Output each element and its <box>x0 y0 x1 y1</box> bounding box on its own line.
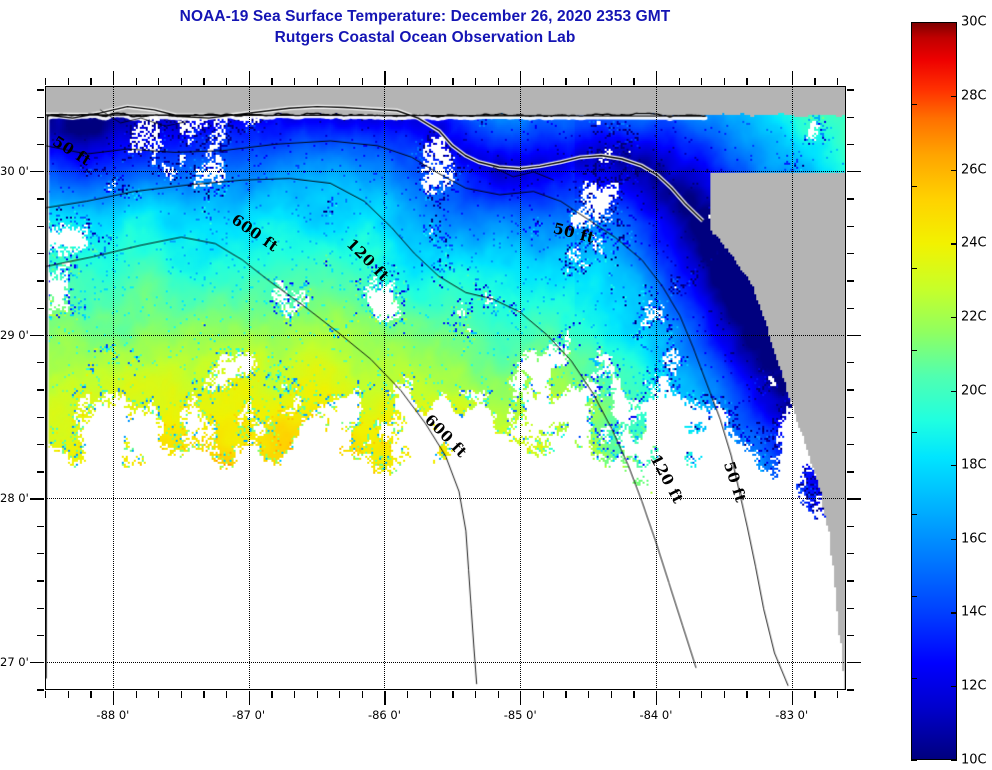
x-tick <box>339 78 340 85</box>
x-tick <box>679 78 680 85</box>
y-tick <box>847 389 854 390</box>
x-tick <box>724 78 725 85</box>
colorbar-label-celsius: 26C <box>961 162 987 177</box>
y-tick <box>37 362 44 363</box>
x-tick <box>498 691 499 698</box>
x-tick <box>384 71 385 85</box>
y-tick <box>30 662 44 663</box>
colorbar-tick-c <box>951 22 957 23</box>
x-axis-tick-label: -84 0' <box>639 708 672 722</box>
x-tick <box>520 691 521 705</box>
x-tick <box>45 78 46 85</box>
x-tick <box>317 691 318 698</box>
y-tick <box>847 635 854 636</box>
x-axis-tick-label: -87 0' <box>232 708 265 722</box>
colorbar-tick-c <box>951 465 957 466</box>
y-tick <box>37 117 44 118</box>
x-tick <box>407 691 408 698</box>
colorbar-tick-c <box>951 686 957 687</box>
y-tick <box>37 526 44 527</box>
y-tick <box>37 308 44 309</box>
y-tick <box>30 171 44 172</box>
x-tick <box>633 78 634 85</box>
y-tick <box>847 553 854 554</box>
x-tick <box>611 691 612 698</box>
x-tick <box>113 71 114 85</box>
y-tick <box>847 144 854 145</box>
x-tick <box>543 78 544 85</box>
colorbar-label-celsius: 24C <box>961 236 987 251</box>
title-line-2: Rutgers Coastal Ocean Observation Lab <box>0 27 850 48</box>
y-tick <box>847 417 854 418</box>
x-tick <box>45 691 46 698</box>
y-tick <box>847 471 854 472</box>
colorbar-tick-c <box>951 391 957 392</box>
x-tick <box>498 78 499 85</box>
y-axis-tick-label: 28 0' <box>0 491 27 505</box>
x-tick <box>339 691 340 698</box>
y-axis-tick-label: 29 0' <box>0 328 27 342</box>
x-tick <box>701 691 702 698</box>
page-title: NOAA-19 Sea Surface Temperature: Decembe… <box>0 6 850 48</box>
y-axis-tick-label: 30 0' <box>0 164 27 178</box>
y-tick <box>37 444 44 445</box>
colorbar-tick-c <box>951 317 957 318</box>
y-tick <box>37 608 44 609</box>
x-tick <box>792 71 793 85</box>
colorbar-tick-c <box>951 170 957 171</box>
colorbar-label-celsius: 18C <box>961 457 987 472</box>
y-tick <box>847 498 861 499</box>
sst-raster-image <box>46 87 845 689</box>
y-tick <box>847 308 854 309</box>
y-tick <box>37 226 44 227</box>
y-tick <box>847 580 854 581</box>
y-tick <box>37 471 44 472</box>
x-tick <box>158 78 159 85</box>
colorbar-tick-f <box>911 514 917 515</box>
x-tick <box>113 691 114 705</box>
y-tick <box>37 635 44 636</box>
x-axis-tick-label: -86 0' <box>368 708 401 722</box>
x-tick <box>158 691 159 698</box>
x-tick <box>814 691 815 698</box>
y-tick <box>37 389 44 390</box>
colorbar-tick-c <box>951 612 957 613</box>
colorbar-tick-f <box>911 22 917 23</box>
y-tick <box>847 689 854 690</box>
x-tick <box>226 691 227 698</box>
y-tick <box>847 362 854 363</box>
x-tick <box>407 78 408 85</box>
x-tick <box>90 78 91 85</box>
x-tick <box>724 691 725 698</box>
x-tick <box>520 71 521 85</box>
colorbar-tick-f <box>911 104 917 105</box>
x-tick <box>271 691 272 698</box>
x-tick <box>317 78 318 85</box>
x-tick <box>181 691 182 698</box>
y-tick <box>30 335 44 336</box>
colorbar-tick-f <box>911 760 917 761</box>
x-tick <box>90 691 91 698</box>
x-tick <box>679 691 680 698</box>
colorbar-tick-c <box>951 539 957 540</box>
colorbar-label-celsius: 28C <box>961 88 987 103</box>
x-tick <box>633 691 634 698</box>
x-tick <box>384 691 385 705</box>
x-tick <box>837 691 838 698</box>
x-tick <box>656 691 657 705</box>
colorbar-tick-c <box>951 760 957 761</box>
x-tick <box>430 78 431 85</box>
y-tick <box>37 144 44 145</box>
x-tick <box>136 691 137 698</box>
y-tick <box>847 444 854 445</box>
colorbar-label-celsius: 12C <box>961 679 987 694</box>
sst-map-plot <box>45 86 846 690</box>
x-tick <box>792 691 793 705</box>
y-tick <box>37 89 44 90</box>
x-tick <box>294 78 295 85</box>
x-tick <box>226 78 227 85</box>
colorbar-tick-f <box>911 432 917 433</box>
x-tick <box>181 78 182 85</box>
y-axis-tick-label: 27 0' <box>0 655 27 669</box>
x-tick <box>136 78 137 85</box>
y-tick <box>847 226 854 227</box>
x-tick <box>588 78 589 85</box>
x-tick <box>769 78 770 85</box>
colorbar-label-celsius: 22C <box>961 310 987 325</box>
colorbar-tick-c <box>951 243 957 244</box>
x-tick <box>701 78 702 85</box>
x-tick <box>362 78 363 85</box>
x-tick <box>203 691 204 698</box>
x-tick <box>656 71 657 85</box>
x-tick <box>452 78 453 85</box>
y-tick <box>847 117 854 118</box>
x-tick <box>565 78 566 85</box>
y-tick <box>37 417 44 418</box>
x-tick <box>769 691 770 698</box>
x-tick <box>837 78 838 85</box>
x-tick <box>611 78 612 85</box>
x-tick <box>203 78 204 85</box>
y-tick <box>847 171 861 172</box>
title-line-1: NOAA-19 Sea Surface Temperature: Decembe… <box>0 6 850 27</box>
y-tick <box>847 608 854 609</box>
x-tick <box>543 691 544 698</box>
x-axis-tick-label: -85 0' <box>504 708 537 722</box>
y-tick <box>847 89 854 90</box>
x-tick <box>475 78 476 85</box>
colorbar-label-celsius: 30C <box>961 15 987 30</box>
x-tick <box>249 71 250 85</box>
y-tick <box>37 580 44 581</box>
colorbar-tick-f <box>911 186 917 187</box>
x-tick <box>294 691 295 698</box>
colorbar-label-celsius: 14C <box>961 605 987 620</box>
y-tick <box>37 280 44 281</box>
colorbar-tick-f <box>911 268 917 269</box>
x-axis-tick-label: -88 0' <box>96 708 129 722</box>
colorbar-tick-c <box>951 96 957 97</box>
y-tick <box>847 253 854 254</box>
x-tick <box>452 691 453 698</box>
colorbar-tick-f <box>911 350 917 351</box>
colorbar-label-celsius: 20C <box>961 384 987 399</box>
x-tick <box>814 78 815 85</box>
x-tick <box>68 691 69 698</box>
x-tick <box>430 691 431 698</box>
x-tick <box>249 691 250 705</box>
y-tick <box>847 198 854 199</box>
colorbar-label-celsius: 10C <box>961 753 987 768</box>
y-tick <box>37 689 44 690</box>
colorbar-label-celsius: 16C <box>961 531 987 546</box>
x-axis-tick-label: -83 0' <box>775 708 808 722</box>
y-tick <box>37 198 44 199</box>
x-tick <box>271 78 272 85</box>
y-tick <box>847 335 861 336</box>
x-tick <box>565 691 566 698</box>
y-tick <box>847 662 861 663</box>
y-tick <box>37 253 44 254</box>
x-tick <box>68 78 69 85</box>
y-tick <box>37 553 44 554</box>
x-tick <box>746 691 747 698</box>
x-tick <box>362 691 363 698</box>
colorbar-tick-f <box>911 678 917 679</box>
colorbar-tick-f <box>911 596 917 597</box>
y-tick <box>30 498 44 499</box>
y-tick <box>847 526 854 527</box>
x-tick <box>746 78 747 85</box>
x-tick <box>475 691 476 698</box>
x-tick <box>588 691 589 698</box>
y-tick <box>847 280 854 281</box>
